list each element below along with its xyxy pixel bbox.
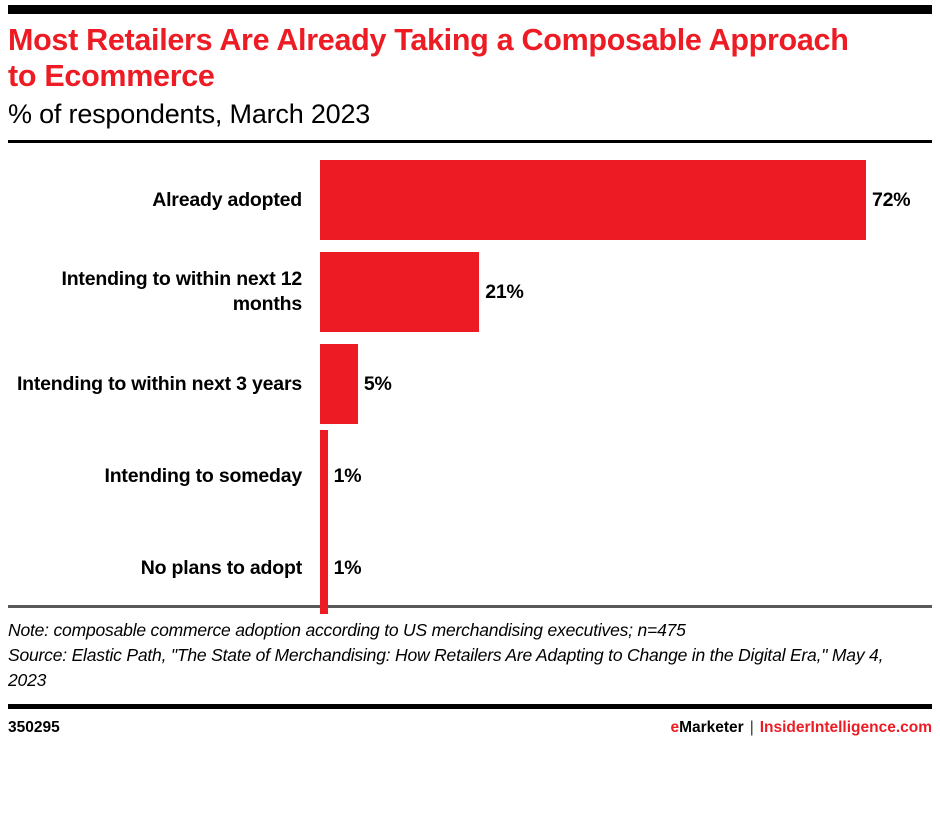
bar-value-label: 21%	[485, 281, 523, 304]
bar-area: 72%	[320, 160, 932, 240]
chart-footer: 350295 eMarketer|InsiderIntelligence.com	[8, 709, 932, 737]
category-label: No plans to adopt	[8, 556, 320, 581]
bar-area: 1%	[320, 430, 932, 522]
bar-value-label: 1%	[334, 465, 362, 488]
bar	[320, 344, 358, 424]
brand-marketer: Marketer	[679, 719, 744, 736]
brand-e: e	[670, 719, 679, 736]
category-label: Already adopted	[8, 188, 320, 213]
bar	[320, 252, 479, 332]
bar-value-label: 1%	[334, 557, 362, 580]
source-text: Source: Elastic Path, "The State of Merc…	[8, 643, 908, 693]
brand-website: InsiderIntelligence.com	[760, 719, 932, 736]
bar	[320, 160, 866, 240]
chart-row: Already adopted 72%	[8, 154, 932, 246]
chart-row: No plans to adopt 1%	[8, 522, 932, 614]
chart-page: Most Retailers Are Already Taking a Comp…	[0, 5, 940, 813]
bar	[320, 430, 328, 522]
chart-row: Intending to within next 12 months 21%	[8, 246, 932, 338]
brand-lockup: eMarketer|InsiderIntelligence.com	[670, 719, 932, 737]
bar-value-label: 72%	[872, 189, 910, 212]
bar-value-label: 5%	[364, 373, 392, 396]
chart-row: Intending to someday 1%	[8, 430, 932, 522]
bar-chart: Already adopted 72% Intending to within …	[8, 143, 932, 603]
note-text: Note: composable commerce adoption accor…	[8, 618, 908, 643]
category-label: Intending to someday	[8, 464, 320, 489]
top-rule	[8, 5, 932, 14]
notes-block: Note: composable commerce adoption accor…	[8, 608, 932, 693]
category-label: Intending to within next 3 years	[8, 372, 320, 397]
chart-id: 350295	[8, 719, 60, 737]
bar-area: 21%	[320, 252, 932, 332]
bar	[320, 522, 328, 614]
chart-row: Intending to within next 3 years 5%	[8, 338, 932, 430]
page-subtitle: % of respondents, March 2023	[8, 97, 932, 131]
bar-area: 5%	[320, 344, 932, 424]
brand-divider: |	[744, 719, 760, 736]
chart-header: Most Retailers Are Already Taking a Comp…	[8, 14, 932, 131]
page-title: Most Retailers Are Already Taking a Comp…	[8, 22, 878, 94]
bar-area: 1%	[320, 522, 932, 614]
category-label: Intending to within next 12 months	[8, 267, 320, 317]
